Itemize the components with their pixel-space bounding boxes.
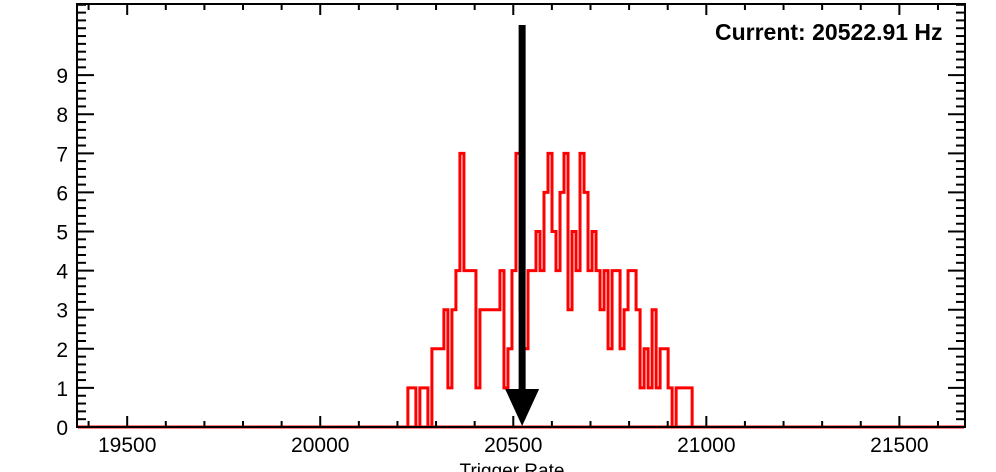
y-tick-label: 9 xyxy=(56,65,68,88)
current-value-marker xyxy=(505,25,539,426)
y-tick-label: 1 xyxy=(56,378,68,401)
y-tick-label: 7 xyxy=(56,143,68,166)
x-tick-label: 20500 xyxy=(484,434,542,457)
x-tick-label: 20000 xyxy=(291,434,349,457)
current-rate-readout: Current: 20522.91 Hz xyxy=(715,19,943,46)
root-canvas: 19500200002050021000215000123456789Trigg… xyxy=(0,0,996,472)
y-tick-label: 4 xyxy=(56,261,68,284)
y-tick-label: 0 xyxy=(56,417,68,440)
histogram-outline xyxy=(408,153,692,427)
x-tick-label: 21000 xyxy=(677,434,735,457)
marker-arrowhead xyxy=(505,389,539,426)
y-tick-label: 2 xyxy=(56,339,68,362)
x-tick-label: 21500 xyxy=(870,434,928,457)
y-tick-label: 6 xyxy=(56,182,68,205)
y-tick-label: 5 xyxy=(56,222,68,245)
x-axis-title: Trigger Rate xyxy=(460,461,565,472)
histogram-plot[interactable]: 19500200002050021000215000123456789Trigg… xyxy=(0,0,996,472)
y-tick-label: 8 xyxy=(56,104,68,127)
y-tick-label: 3 xyxy=(56,300,68,323)
x-tick-label: 19500 xyxy=(98,434,156,457)
axis-labels-layer: 19500200002050021000215000123456789Trigg… xyxy=(56,65,928,472)
